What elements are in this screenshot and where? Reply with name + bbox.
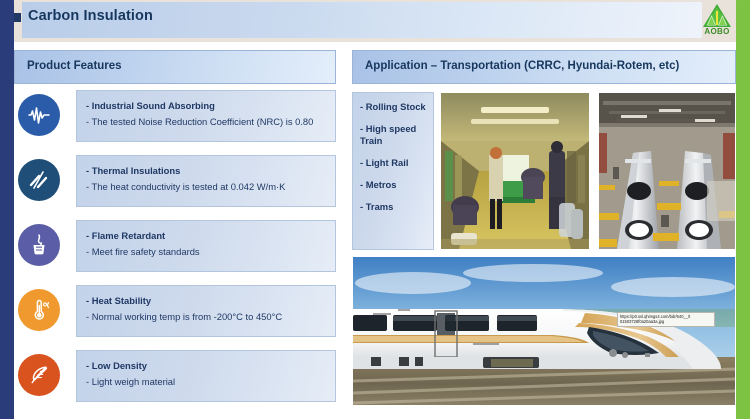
thermal-insulation-icon (27, 168, 51, 192)
mountain-triangle-icon (702, 3, 732, 28)
application-header-label: Application – Transportation (CRRC, Hyun… (365, 60, 679, 72)
train-interior-photo (440, 92, 590, 250)
application-list: - Rolling Stock - High speed Train - Lig… (352, 92, 434, 250)
product-features-header-label: Product Features (27, 60, 122, 72)
feather-icon (27, 363, 51, 387)
right-accent-bar (736, 0, 750, 419)
sound-wave-icon (18, 94, 60, 136)
list-item: - Light Rail (360, 157, 428, 169)
feature-text-box: - Flame Retardant- Meet fire safety stan… (76, 220, 336, 272)
slide-canvas: Carbon Insulation AOBO Product Features … (0, 0, 750, 419)
feature-text-box: - Low Density- Light weigh material (76, 350, 336, 402)
list-item: - Metros (360, 179, 428, 191)
feature-detail: - Light weigh material (86, 374, 327, 390)
page-title: Carbon Insulation (28, 8, 153, 24)
tooltip-line-2: 01503728f0a20aa3a.jpg (620, 319, 712, 324)
feature-title: - Heat Stability (86, 293, 327, 309)
feature-row: - Heat Stability- Normal working temp is… (14, 285, 336, 337)
feature-text-box: - Industrial Sound Absorbing- The tested… (76, 90, 336, 142)
list-item: - High speed Train (360, 123, 428, 147)
application-header: Application – Transportation (CRRC, Hyun… (352, 50, 736, 84)
feature-detail: - The tested Noise Reduction Coefficient… (86, 114, 327, 130)
feather-icon (18, 354, 60, 396)
bottom-strip (0, 405, 750, 419)
feature-row: - Low Density- Light weigh material (14, 350, 336, 402)
thermometer-icon (27, 298, 51, 322)
feature-title: - Flame Retardant (86, 228, 327, 244)
logo-text: AOBO (696, 27, 738, 36)
feature-title: - Low Density (86, 358, 327, 374)
list-item: - Trams (360, 201, 428, 213)
image-url-tooltip: https://p0.ssl.qhimgs4.com/bdr/640__/t 0… (617, 312, 715, 327)
feature-detail: - Normal working temp is from -200°C to … (86, 309, 327, 325)
feature-text-box: - Thermal Insulations- The heat conducti… (76, 155, 336, 207)
list-item: - Rolling Stock (360, 101, 428, 113)
flame-retardant-icon (27, 233, 51, 257)
high-speed-train-photo (352, 256, 736, 406)
aobo-logo: AOBO (696, 3, 738, 39)
product-features-header: Product Features (14, 50, 336, 84)
feature-text-box: - Heat Stability- Normal working temp is… (76, 285, 336, 337)
left-accent-bar (0, 0, 14, 419)
train-factory-photo (598, 92, 736, 250)
feature-row: - Industrial Sound Absorbing- The tested… (14, 90, 336, 142)
feature-title: - Industrial Sound Absorbing (86, 98, 327, 114)
feature-detail: - The heat conductivity is tested at 0.0… (86, 179, 327, 195)
feature-detail: - Meet fire safety standards (86, 244, 327, 260)
thermal-insulation-icon (18, 159, 60, 201)
slide-body: Product Features Application – Transport… (0, 42, 750, 419)
thermometer-icon (18, 289, 60, 331)
feature-row: - Thermal Insulations- The heat conducti… (14, 155, 336, 207)
feature-title: - Thermal Insulations (86, 163, 327, 179)
flame-retardant-icon (18, 224, 60, 266)
feature-row: - Flame Retardant- Meet fire safety stan… (14, 220, 336, 272)
sound-wave-icon (27, 103, 51, 127)
